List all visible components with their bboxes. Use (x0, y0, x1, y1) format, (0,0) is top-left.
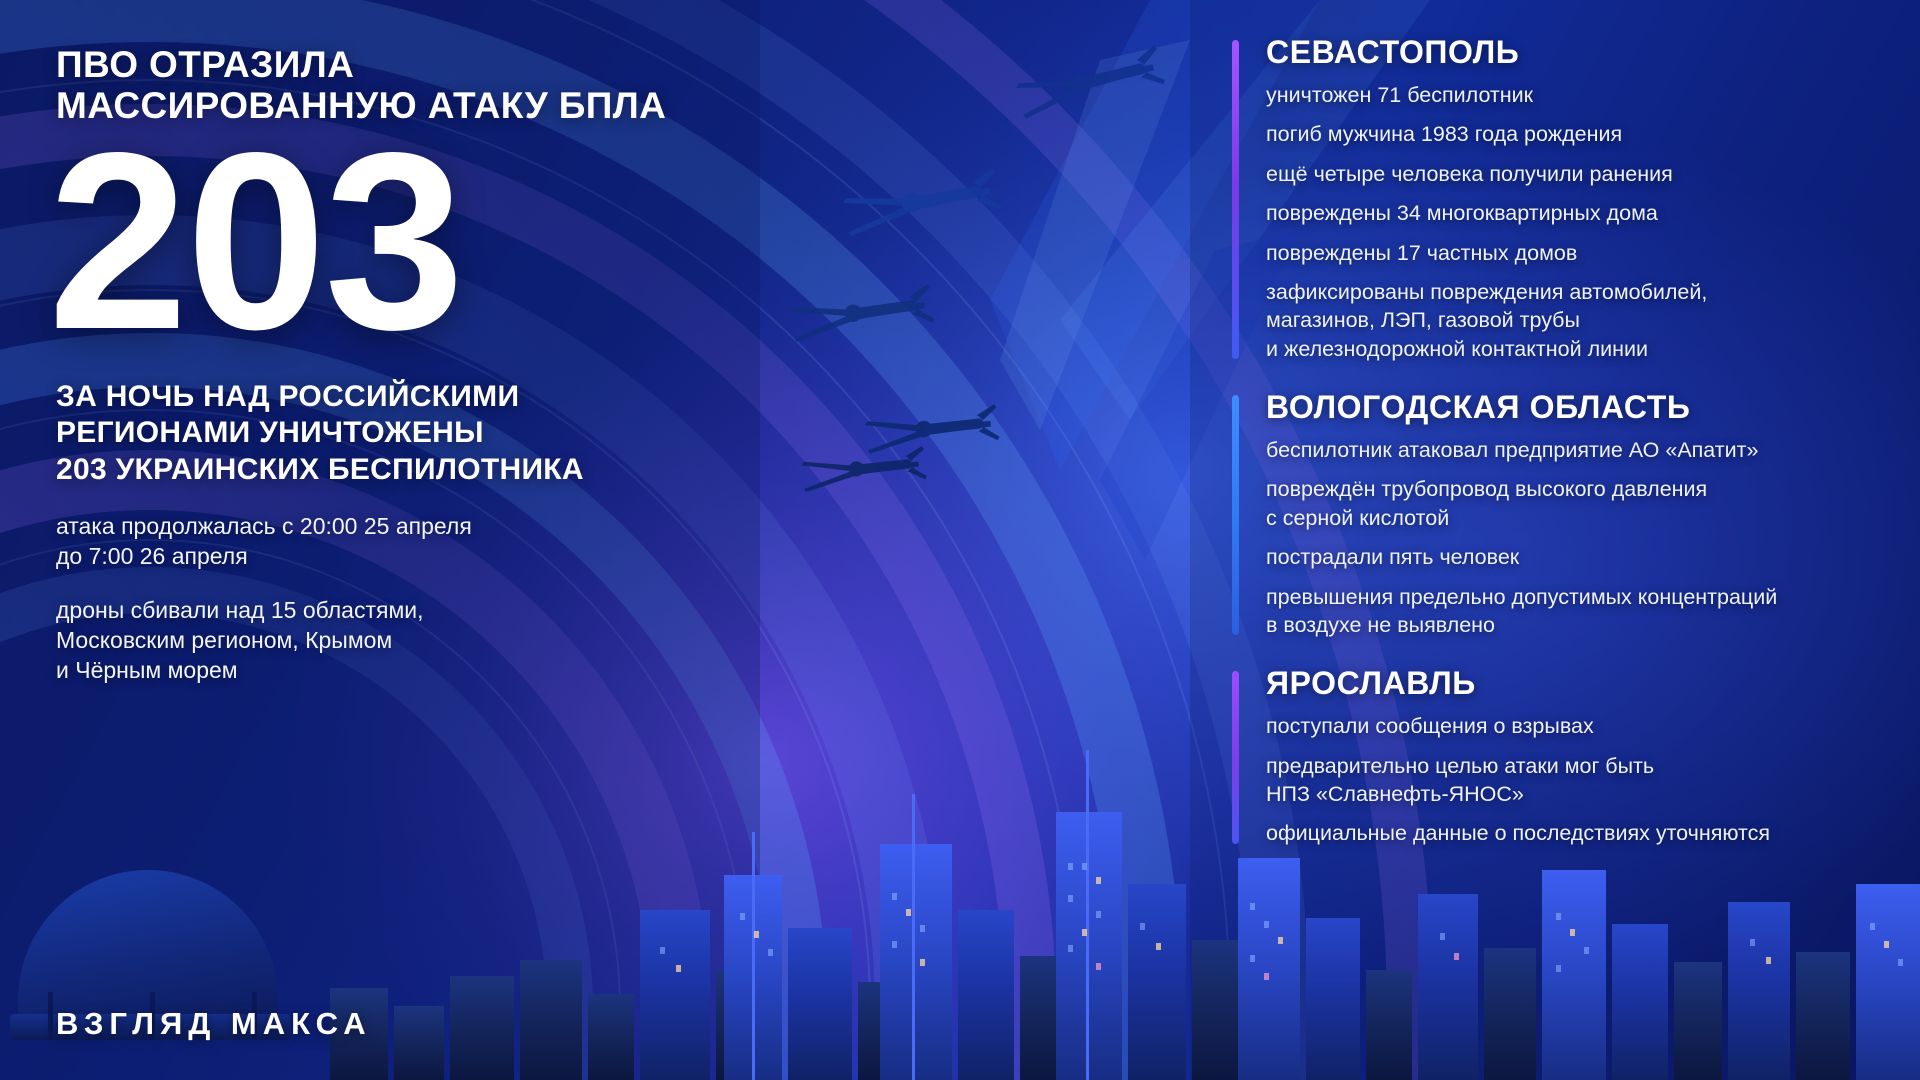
accent-bar (1232, 395, 1239, 635)
big-number-stat: 203 (48, 131, 776, 353)
region-block-sevastopol: СЕВАСТОПОЛЬ уничтожен 71 беспилотник пог… (1232, 34, 1872, 363)
region-item: повреждены 34 многоквартирных дома (1266, 199, 1872, 227)
region-item: повреждены 17 частных домов (1266, 239, 1872, 267)
drone-icon (798, 435, 931, 502)
region-item: предварительно целью атаки мог быть НПЗ … (1266, 752, 1872, 809)
drone-icon (1009, 33, 1170, 131)
region-block-vologodskaya-oblast: ВОЛОГОДСКАЯ ОБЛАСТЬ беспилотник атаковал… (1232, 389, 1872, 639)
region-item: уничтожен 71 беспилотник (1266, 81, 1872, 109)
region-block-yaroslavl: ЯРОСЛАВЛЬ поступали сообщения о взрывах … (1232, 665, 1872, 848)
region-item: превышения предельно допустимых концентр… (1266, 583, 1872, 640)
region-item: погиб мужчина 1983 года рождения (1266, 120, 1872, 148)
region-title: СЕВАСТОПОЛЬ (1266, 34, 1872, 71)
region-item: зафиксированы повреждения автомобилей, м… (1266, 278, 1872, 363)
accent-bar (1232, 40, 1239, 359)
region-item: ещё четыре человека получили ранения (1266, 160, 1872, 188)
left-content-column: ПВО ОТРАЗИЛА МАССИРОВАННУЮ АТАКУ БПЛА 20… (56, 44, 776, 686)
drone-icon (784, 272, 939, 354)
subheadline: ЗА НОЧЬ НАД РОССИЙСКИМИ РЕГИОНАМИ УНИЧТО… (56, 379, 776, 489)
brand-logo: ВЗГЛЯД МАКСА (56, 1006, 372, 1042)
note-attack-duration: атака продолжалась с 20:00 25 апреля до … (56, 512, 776, 572)
region-title: ЯРОСЛАВЛЬ (1266, 665, 1872, 702)
region-item: беспилотник атаковал предприятие АО «Апа… (1266, 436, 1872, 464)
infographic-poster: ПВО ОТРАЗИЛА МАССИРОВАННУЮ АТАКУ БПЛА 20… (0, 0, 1920, 1080)
region-title: ВОЛОГОДСКАЯ ОБЛАСТЬ (1266, 389, 1872, 426)
drone-icon (837, 155, 1006, 250)
right-content-column: СЕВАСТОПОЛЬ уничтожен 71 беспилотник пог… (1232, 34, 1872, 874)
region-item: пострадали пять человек (1266, 543, 1872, 571)
region-item: поступали сообщения о взрывах (1266, 712, 1872, 740)
drone-icon (859, 393, 1004, 465)
region-item: повреждён трубопровод высокого давления … (1266, 475, 1872, 532)
note-regions: дроны сбивали над 15 областями, Московск… (56, 596, 776, 686)
region-item: официальные данные о последствиях уточня… (1266, 819, 1872, 847)
accent-bar (1232, 671, 1239, 844)
